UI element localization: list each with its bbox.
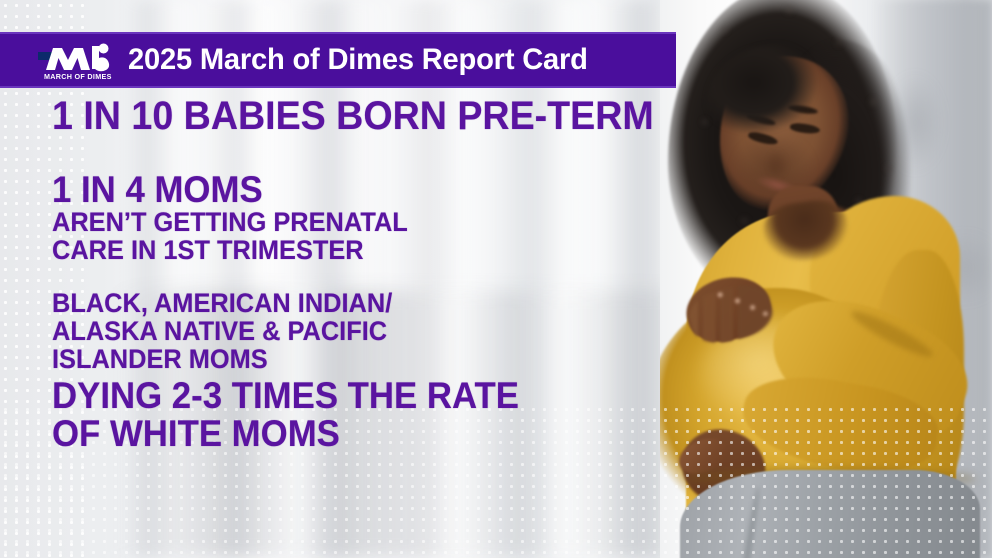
stat-line: 1 IN 10 BABIES BORN PRE-TERM [52, 96, 644, 136]
logo-wordmark: MARCH OF DIMES [44, 72, 112, 81]
stat-line: BLACK, AMERICAN INDIAN/ [52, 290, 644, 317]
stat-line: ISLANDER MOMS [52, 346, 644, 373]
stat-block-preterm-birth: 1 IN 10 BABIES BORN PRE-TERM [52, 96, 682, 136]
statistics-copy: 1 IN 10 BABIES BORN PRE-TERM 1 IN 4 MOMS… [52, 96, 682, 452]
stat-line: OF WHITE MOMS [52, 415, 644, 452]
stat-line: 1 IN 4 MOMS [52, 171, 644, 208]
header-banner: MARCH OF DIMES 2025 March of Dimes Repor… [0, 32, 676, 88]
stat-line: DYING 2-3 TIMES THE RATE [52, 377, 644, 414]
report-card-graphic: MARCH OF DIMES 2025 March of Dimes Repor… [0, 0, 992, 558]
stat-block-maternal-mortality-groups: BLACK, AMERICAN INDIAN/ ALASKA NATIVE & … [52, 290, 682, 373]
banner-title: 2025 March of Dimes Report Card [128, 45, 588, 75]
stat-line: ALASKA NATIVE & PACIFIC [52, 318, 644, 345]
stat-block-maternal-mortality-rate: DYING 2-3 TIMES THE RATE OF WHITE MOMS [52, 377, 682, 452]
stat-line: AREN’T GETTING PRENATAL [52, 209, 644, 236]
stat-line: CARE IN 1ST TRIMESTER [52, 237, 644, 264]
march-of-dimes-logo: MARCH OF DIMES [36, 38, 114, 82]
stat-block-prenatal-care: 1 IN 4 MOMS AREN’T GETTING PRENATAL CARE… [52, 171, 682, 264]
